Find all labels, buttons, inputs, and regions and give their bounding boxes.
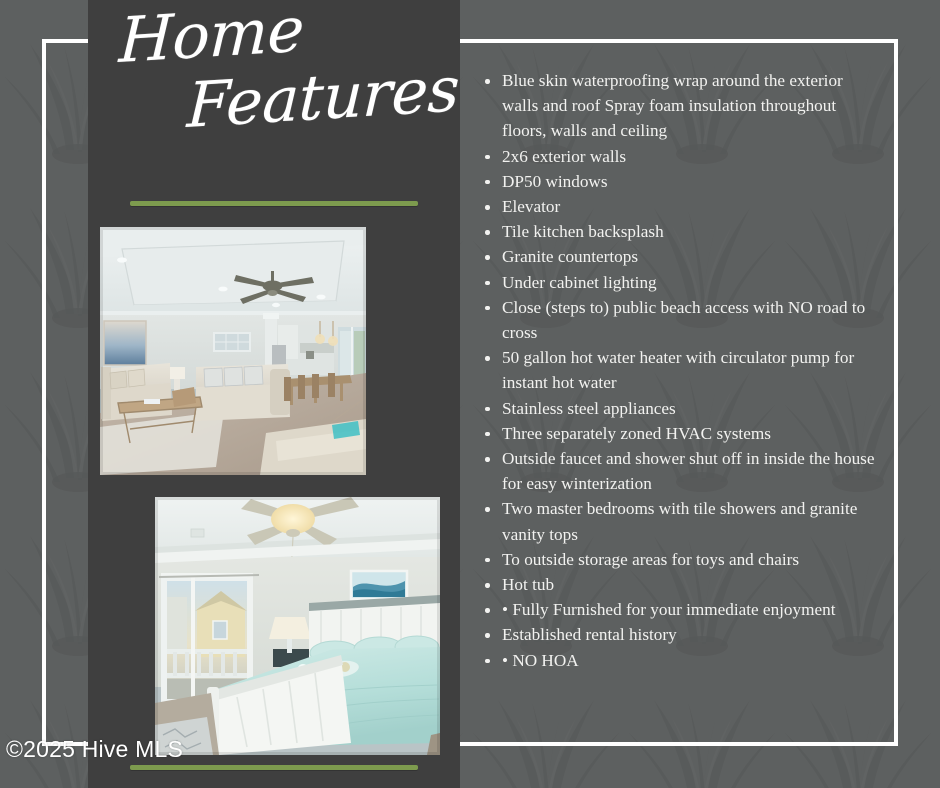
feature-list-item: Stainless steel appliances [480,396,880,421]
feature-list-item: • NO HOA [480,648,880,673]
flyer-canvas: Home Features [0,0,940,788]
title-line-features: Features [186,61,452,134]
feature-list-item: Two master bedrooms with tile showers an… [480,496,880,546]
feature-list-item: • Fully Furnished for your immediate enj… [480,597,880,622]
feature-list-item: Hot tub [480,572,880,597]
feature-list-item: Blue skin waterproofing wrap around the … [480,68,880,144]
bedroom-photo [155,497,440,755]
green-divider-top [130,201,418,206]
feature-list-item: Three separately zoned HVAC systems [480,421,880,446]
page-title: Home Features [100,12,450,212]
feature-list-item: Elevator [480,194,880,219]
feature-list-item: Tile kitchen backsplash [480,219,880,244]
feature-list-item: Granite countertops [480,244,880,269]
green-divider-bottom [130,765,418,770]
living-room-photo [100,227,366,475]
mls-copyright-watermark: ©2025 Hive MLS [6,736,183,763]
feature-list-item: Under cabinet lighting [480,270,880,295]
feature-list-item: DP50 windows [480,169,880,194]
feature-list-item: To outside storage areas for toys and ch… [480,547,880,572]
feature-list-item: 2x6 exterior walls [480,144,880,169]
feature-list-item: Established rental history [480,622,880,647]
feature-list-item: Close (steps to) public beach access wit… [480,295,880,345]
home-features-list: Blue skin waterproofing wrap around the … [480,68,880,673]
feature-list-item: Outside faucet and shower shut off in in… [480,446,880,496]
feature-list-item: 50 gallon hot water heater with circulat… [480,345,880,395]
